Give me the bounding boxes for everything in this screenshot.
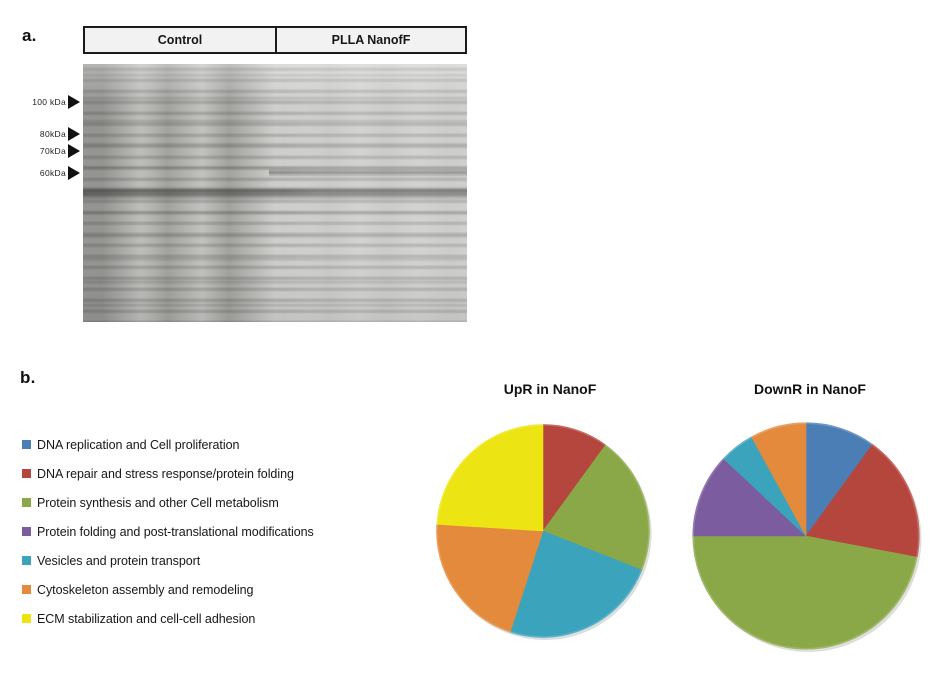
panel-a-letter: a. [22, 26, 37, 46]
gel-vignette [83, 64, 467, 322]
legend-item: DNA replication and Cell proliferation [22, 430, 422, 459]
pie-legend: DNA replication and Cell proliferationDN… [22, 430, 422, 633]
gel-lane-header-row: Control PLLA NanofF [83, 26, 467, 54]
legend-swatch-icon [22, 440, 31, 449]
marker-80-kda: 80kDa [0, 127, 80, 140]
legend-swatch-icon [22, 498, 31, 507]
arrow-right-icon [68, 127, 80, 141]
panel-b-letter: b. [20, 368, 36, 388]
pie-svg [432, 420, 654, 642]
figure-root: a. Control PLLA NanofF 100 kDa 80kDa 70k… [0, 0, 942, 687]
marker-80-kda-label: 80kDa [40, 129, 66, 139]
legend-item: ECM stabilization and cell-cell adhesion [22, 604, 422, 633]
downr-chart-title: DownR in NanoF [700, 381, 920, 397]
legend-item-label: DNA repair and stress response/protein f… [37, 467, 294, 481]
pie-slice [693, 536, 918, 649]
legend-swatch-icon [22, 614, 31, 623]
legend-swatch-icon [22, 527, 31, 536]
arrow-right-icon [68, 166, 80, 180]
legend-item: DNA repair and stress response/protein f… [22, 459, 422, 488]
legend-item-label: Vesicles and protein transport [37, 554, 200, 568]
upr-pie-chart [432, 420, 654, 642]
legend-item: Cytoskeleton assembly and remodeling [22, 575, 422, 604]
legend-swatch-icon [22, 585, 31, 594]
marker-60-kda-label: 60kDa [40, 168, 66, 178]
legend-item-label: DNA replication and Cell proliferation [37, 438, 239, 452]
gel-image [83, 64, 467, 322]
legend-item-label: Cytoskeleton assembly and remodeling [37, 583, 253, 597]
pie-slice [437, 424, 543, 531]
legend-swatch-icon [22, 556, 31, 565]
arrow-right-icon [68, 144, 80, 158]
lane-header-plla-nanof: PLLA NanofF [275, 28, 465, 52]
marker-100-kda: 100 kDa [0, 95, 80, 108]
marker-100-kda-label: 100 kDa [32, 97, 66, 107]
legend-item-label: ECM stabilization and cell-cell adhesion [37, 612, 255, 626]
marker-60-kda: 60kDa [0, 166, 80, 179]
marker-70-kda: 70kDa [0, 144, 80, 157]
upr-chart-title: UpR in NanoF [440, 381, 660, 397]
marker-70-kda-label: 70kDa [40, 146, 66, 156]
legend-item: Protein synthesis and other Cell metabol… [22, 488, 422, 517]
gel-panel: Control PLLA NanofF [83, 26, 467, 322]
legend-item: Protein folding and post-translational m… [22, 517, 422, 546]
legend-item-label: Protein folding and post-translational m… [37, 525, 314, 539]
legend-item: Vesicles and protein transport [22, 546, 422, 575]
downr-pie-chart [688, 418, 924, 654]
lane-header-control: Control [85, 28, 275, 52]
legend-item-label: Protein synthesis and other Cell metabol… [37, 496, 279, 510]
arrow-right-icon [68, 95, 80, 109]
legend-swatch-icon [22, 469, 31, 478]
pie-svg [688, 418, 924, 654]
